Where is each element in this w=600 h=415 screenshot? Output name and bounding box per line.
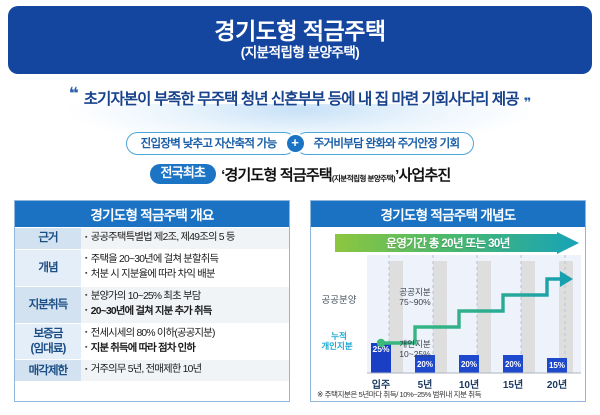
overview-panel-heading: 경기도형 적금주택 개요 <box>15 201 289 227</box>
svg-text:15%: 15% <box>549 361 565 370</box>
svg-text:개인지분: 개인지분 <box>399 339 430 349</box>
tagline-text: 초기자본이 부족한 무주택 청년 신혼부부 등에 내 집 마련 기회사다리 제공 <box>84 87 519 109</box>
svg-text:개인지분: 개인지분 <box>321 341 352 351</box>
header-banner: 경기도형 적금주택 (지분적립형 분양주택) <box>8 6 592 74</box>
infographic-page: 경기도형 적금주택 (지분적립형 분양주택) ❝ 초기자본이 부족한 무주택 청… <box>0 0 600 415</box>
first-in-nation-text: ‘경기도형 적금주택(지분적립형 분양주택)’사업추진 <box>221 164 450 185</box>
quote-close-icon: ❞ <box>524 96 532 109</box>
table-row: 보증금 (임대료) 전세시세의 80% 이하(공공지분) 지분 취득에 따라 점… <box>15 323 289 360</box>
svg-text:10~25%: 10~25% <box>399 349 431 359</box>
first-in-nation-row: 전국최초 ‘경기도형 적금주택(지분적립형 분양주택)’사업추진 <box>0 161 600 187</box>
overview-panel: 경기도형 적금주택 개요 근거 공공주택특별법 제2조, 제49조의 5 등 개… <box>14 200 290 402</box>
row-content: 분양가의 10~25% 최초 부담 20~30년에 걸쳐 지분 추가 취득 <box>81 286 289 323</box>
step-chart: 25% 20% 20% 20% 15% <box>311 255 586 402</box>
svg-text:누적: 누적 <box>331 331 347 341</box>
table-row: 개념 주택을 20~30년에 걸쳐 분할취득 처분 시 지분율에 따라 차익 배… <box>15 249 289 286</box>
table-row: 매각제한 거주의무 5년, 전매제한 10년 <box>15 360 289 381</box>
bullet-item: 공공주택특별법 제2조, 제49조의 5 등 <box>85 231 285 246</box>
program-action: 사업추진 <box>398 164 450 185</box>
svg-text:75~90%: 75~90% <box>399 297 431 307</box>
row-label-line2: (임대료) <box>31 343 66 355</box>
bullet-item: 전세시세의 80% 이하(공공지분) <box>85 327 285 342</box>
tagline: ❝ 초기자본이 부족한 무주택 청년 신혼부부 등에 내 집 마련 기회사다리 … <box>0 84 600 112</box>
quote-open-icon: ❝ <box>69 85 79 102</box>
bullet-item: 주택을 20~30년에 걸쳐 분할취득 <box>85 253 285 268</box>
row-content: 공공주택특별법 제2조, 제49조의 5 등 <box>81 228 289 250</box>
row-label: 매각제한 <box>15 360 81 381</box>
svg-text:공공분양: 공공분양 <box>322 295 357 306</box>
plus-icon: + <box>287 135 304 152</box>
concept-panel-heading: 경기도형 적금주택 개념도 <box>311 201 585 227</box>
bullet-item: 20~30년에 걸쳐 지분 추가 취득 <box>85 305 285 320</box>
bullet-item: 지분 취득에 따라 점차 인하 <box>85 342 285 357</box>
benefit-pill-row: 진입장벽 낮추고 자산축적 가능 + 주거비부담 완화와 주거안정 기회 <box>0 131 600 155</box>
row-content: 거주의무 5년, 전매제한 10년 <box>81 360 289 381</box>
page-title: 경기도형 적금주택 <box>214 19 385 44</box>
svg-text:15년: 15년 <box>503 378 523 391</box>
page-subtitle: (지분적립형 분양주택) <box>241 46 360 61</box>
svg-text:20%: 20% <box>505 360 521 369</box>
svg-text:20%: 20% <box>461 360 477 369</box>
row-content: 전세시세의 80% 이하(공공지분) 지분 취득에 따라 점차 인하 <box>81 323 289 360</box>
bullet-item: 분양가의 10~25% 최초 부담 <box>85 290 285 305</box>
overview-table-body: 근거 공공주택특별법 제2조, 제49조의 5 등 개념 주택을 20~30년에… <box>15 228 289 382</box>
program-name-paren: (지분적립형 분양주택) <box>332 173 395 184</box>
bullet-item: 거주의무 5년, 전매제한 10년 <box>85 363 285 378</box>
svg-text:20년: 20년 <box>547 378 567 391</box>
operating-period-label: 운영기간 총 20년 또는 30년 <box>335 232 561 254</box>
row-label-line1: 보증금 <box>33 328 62 340</box>
chart-footnote: ※ 주택지분은 5년마다 취득/ 10%~25% 범위내 지분 취득 <box>317 389 481 400</box>
program-name: 경기도형 적금주택 <box>225 164 332 185</box>
concept-chart: 운영기간 총 20년 또는 30년 <box>311 227 585 402</box>
benefit-pill-left: 진입장벽 낮추고 자산축적 가능 <box>126 132 296 155</box>
row-label: 지분취득 <box>15 286 81 323</box>
overview-table: 근거 공공주택특별법 제2조, 제49조의 5 등 개념 주택을 20~30년에… <box>15 227 289 381</box>
row-content: 주택을 20~30년에 걸쳐 분할취득 처분 시 지분율에 따라 차익 배분 <box>81 249 289 286</box>
operating-period-arrow: 운영기간 총 20년 또는 30년 <box>335 232 579 254</box>
table-row: 근거 공공주택특별법 제2조, 제49조의 5 등 <box>15 228 289 250</box>
row-label: 근거 <box>15 228 81 250</box>
concept-diagram-panel: 경기도형 적금주택 개념도 운영기간 총 20년 또는 30년 <box>310 200 586 402</box>
svg-text:20%: 20% <box>417 360 433 369</box>
row-label: 개념 <box>15 249 81 286</box>
svg-text:공공지분: 공공지분 <box>399 287 430 297</box>
benefit-pill-right: 주거비부담 완화와 주거안정 기회 <box>295 132 475 155</box>
table-row: 지분취득 분양가의 10~25% 최초 부담 20~30년에 걸쳐 지분 추가 … <box>15 286 289 323</box>
first-in-nation-badge: 전국최초 <box>150 164 217 184</box>
row-label: 보증금 (임대료) <box>15 323 81 360</box>
bullet-item: 처분 시 지분율에 따라 차익 배분 <box>85 268 285 283</box>
